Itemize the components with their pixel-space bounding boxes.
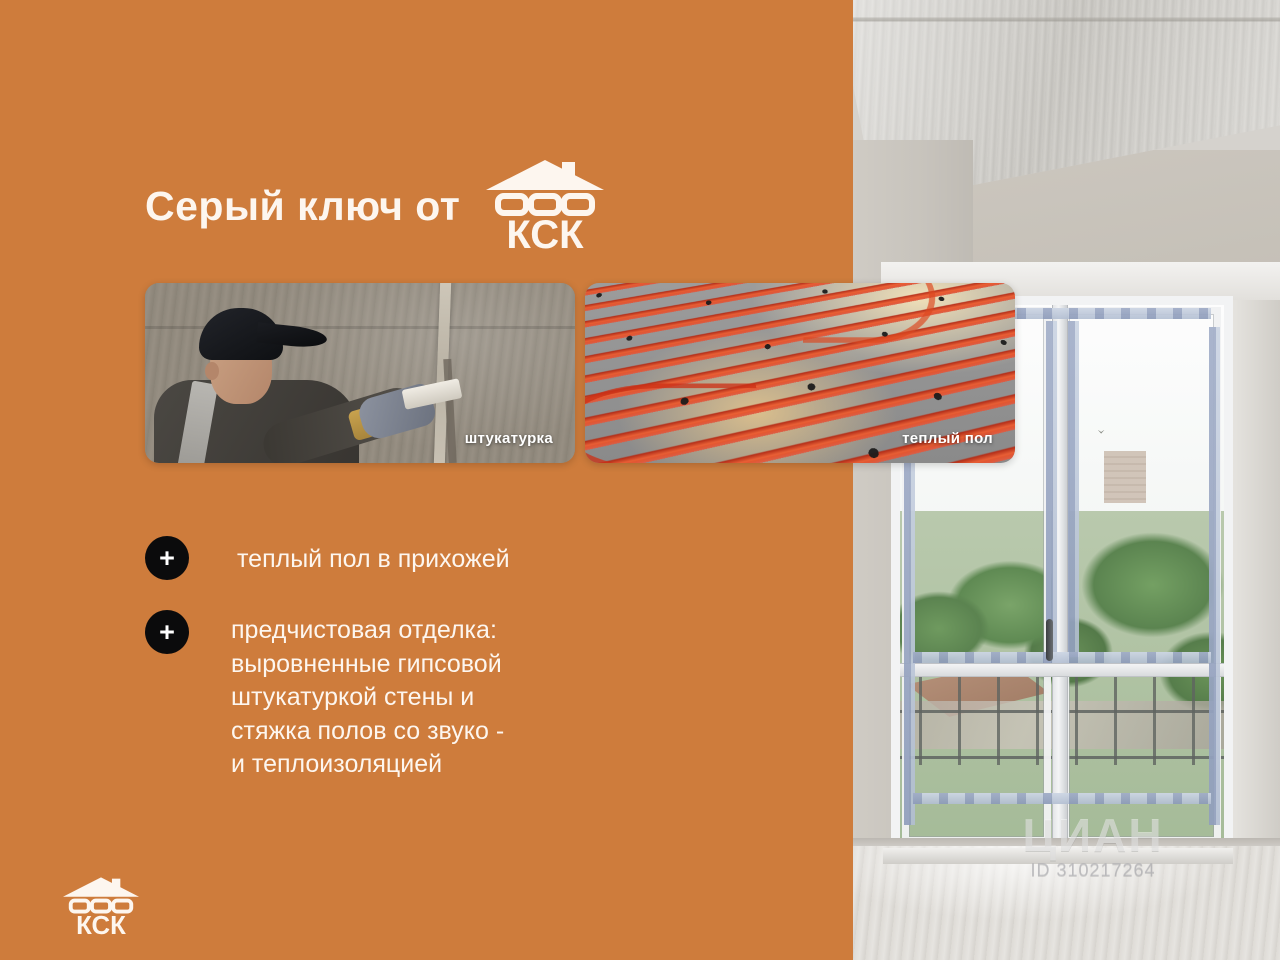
orange-background-panel <box>0 0 854 960</box>
protective-film-strip <box>1068 321 1079 657</box>
page-title: Серый ключ от <box>145 183 460 230</box>
ksk-house-logo: КСК <box>486 160 604 252</box>
plus-badge-icon: + <box>145 536 189 580</box>
slide-root: ЦИАН ID 310217264 Серый ключ от КСК <box>0 0 1280 960</box>
protective-film-strip <box>1046 321 1057 657</box>
protective-film-strip <box>913 652 1211 663</box>
feature-bullet-warm-floor: + теплый пол в прихожей <box>145 536 510 580</box>
card-plaster-label: штукатурка <box>465 430 553 447</box>
protective-film-strip <box>913 793 1211 804</box>
window-handle[interactable] <box>1046 619 1053 661</box>
ceiling-seam-secondary <box>853 17 1280 21</box>
apartment-interior-window-photo: ЦИАН ID 310217264 <box>853 0 1280 960</box>
window-transom-bar <box>900 663 1224 677</box>
card-plaster[interactable]: штукатурка <box>145 283 575 463</box>
card-underfloor-heating-label: теплый пол <box>902 430 993 447</box>
window-sash-right <box>1062 307 1221 844</box>
card-underfloor-heating[interactable]: теплый пол <box>585 283 1015 463</box>
ksk-house-logo-footer[interactable]: КСК <box>63 877 139 942</box>
protective-film-strip <box>1209 327 1220 826</box>
slide-title-row: Серый ключ от КСК <box>145 160 604 252</box>
footer-logo-wordmark: КСК <box>76 912 126 937</box>
feature-bullet-prefinish: + предчистовая отделка: выровненные гипс… <box>145 610 504 782</box>
logo-wordmark: КСК <box>507 213 585 252</box>
plus-badge-icon: + <box>145 610 189 654</box>
window-sill <box>883 848 1233 864</box>
window-reveal-right <box>1225 262 1280 862</box>
feature-bullet-prefinish-text: предчистовая отделка: выровненные гипсов… <box>231 614 504 782</box>
feature-bullet-warm-floor-text: теплый пол в прихожей <box>237 543 510 577</box>
